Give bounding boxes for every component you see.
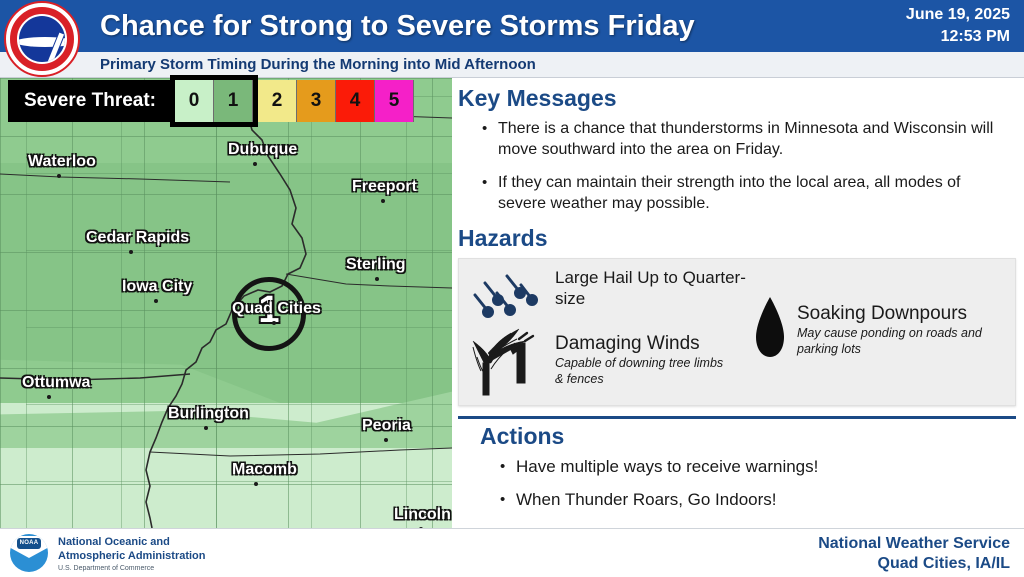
actions-heading: Actions — [480, 422, 564, 450]
severe-threat-label: Severe Threat: — [8, 80, 170, 122]
map-city-label: Lincoln — [394, 506, 451, 524]
map-city-label: Ottumwa — [22, 374, 90, 392]
map-city-label: Quad Cities — [232, 300, 321, 318]
issue-date: June 19, 2025 — [906, 4, 1010, 26]
actions-list: •Have multiple ways to receive warnings!… — [500, 456, 1000, 522]
map-city-dot — [375, 277, 379, 281]
map-city-label: Dubuque — [228, 141, 297, 159]
bullet-icon: • — [500, 489, 516, 510]
map-city-label: Freeport — [352, 178, 417, 196]
threat-level-3[interactable]: 3 — [297, 80, 336, 122]
hazard-hail-label: Large Hail Up to Quarter-size — [555, 267, 775, 309]
map-city-label: Iowa City — [122, 278, 192, 296]
hazards-heading: Hazards — [458, 224, 547, 252]
list-item: •There is a chance that thunderstorms in… — [482, 118, 1002, 160]
threat-level-4[interactable]: 4 — [336, 80, 375, 122]
map-city-label: Cedar Rapids — [86, 229, 189, 247]
map-city-label: Macomb — [232, 461, 297, 479]
noaa-agency-name: National Oceanic and Atmospheric Adminis… — [58, 535, 206, 563]
map-city-dot — [204, 426, 208, 430]
bullet-icon: • — [482, 172, 498, 214]
section-divider — [458, 416, 1016, 419]
map-city-label: Sterling — [346, 256, 406, 274]
map-city-label: Peoria — [362, 417, 411, 435]
map-city-dot — [381, 199, 385, 203]
key-messages-list: •There is a chance that thunderstorms in… — [482, 118, 1002, 226]
hazard-wind-label: Damaging Winds — [555, 333, 755, 354]
footer-bar: NOAA National Oceanic and Atmospheric Ad… — [0, 528, 1024, 577]
subtitle-bar: Primary Storm Timing During the Morning … — [0, 52, 1024, 78]
risk-map[interactable]: 1 WaterlooDubuqueFreeportCedar RapidsSte… — [0, 78, 452, 528]
noaa-department: U.S. Department of Commerce — [58, 564, 154, 573]
office-name: National Weather Service — [818, 534, 1010, 554]
map-city-label: Burlington — [168, 405, 249, 423]
list-item: •If they can maintain their strength int… — [482, 172, 1002, 214]
threat-level-0[interactable]: 0 — [175, 80, 214, 122]
noaa-logo-icon: NOAA — [10, 534, 48, 572]
threat-level-2[interactable]: 2 — [258, 80, 297, 122]
map-city-dot — [272, 321, 276, 325]
threat-level-1[interactable]: 1 — [214, 80, 253, 122]
timestamp: June 19, 2025 12:53 PM — [906, 4, 1010, 48]
threat-level-active-group: 01 — [170, 75, 258, 127]
mississippi-river — [0, 78, 452, 528]
bullet-icon: • — [500, 456, 516, 477]
list-item: •Have multiple ways to receive warnings! — [500, 456, 1000, 477]
subtitle-text: Primary Storm Timing During the Morning … — [100, 54, 536, 76]
hazards-panel: Large Hail Up to Quarter-size — [458, 258, 1016, 406]
hazard-rain-label: Soaking Downpours — [797, 303, 1017, 324]
key-messages-heading: Key Messages — [458, 84, 617, 112]
raindrop-icon — [747, 293, 793, 363]
severe-threat-scale[interactable]: Severe Threat: 012345 — [8, 80, 414, 122]
office-identifier: National Weather Service Quad Cities, IA… — [818, 534, 1010, 574]
map-city-dot — [57, 174, 61, 178]
weather-graphic: Chance for Strong to Severe Storms Frida… — [0, 0, 1024, 576]
hazard-rain-sublabel: May cause ponding on roads and parking l… — [797, 325, 1007, 357]
bullet-icon: • — [482, 118, 498, 160]
office-location: Quad Cities, IA/IL — [818, 554, 1010, 574]
list-item: •When Thunder Roars, Go Indoors! — [500, 489, 1000, 510]
hazard-wind-sublabel: Capable of downing tree limbs & fences — [555, 355, 725, 387]
noaa-line-1: National Oceanic and — [58, 535, 206, 549]
hail-icon — [469, 267, 545, 319]
map-city-dot — [254, 482, 258, 486]
info-panel: Key Messages •There is a chance that thu… — [452, 78, 1024, 528]
wind-tree-icon — [467, 323, 547, 397]
list-item-text: There is a chance that thunderstorms in … — [498, 118, 1002, 160]
page-title: Chance for Strong to Severe Storms Frida… — [100, 6, 820, 46]
list-item-text: Have multiple ways to receive warnings! — [516, 456, 1000, 477]
list-item-text: When Thunder Roars, Go Indoors! — [516, 489, 1000, 510]
issue-time: 12:53 PM — [906, 26, 1010, 48]
noaa-logo-word: NOAA — [17, 538, 41, 549]
map-city-dot — [384, 438, 388, 442]
noaa-line-2: Atmospheric Administration — [58, 549, 206, 563]
nws-seal-icon: NATIONALWEATHERSERVICE — [4, 1, 80, 77]
threat-level-5[interactable]: 5 — [375, 80, 414, 122]
list-item-text: If they can maintain their strength into… — [498, 172, 1002, 214]
header-bar: Chance for Strong to Severe Storms Frida… — [0, 0, 1024, 52]
map-city-label: Waterloo — [28, 153, 96, 171]
